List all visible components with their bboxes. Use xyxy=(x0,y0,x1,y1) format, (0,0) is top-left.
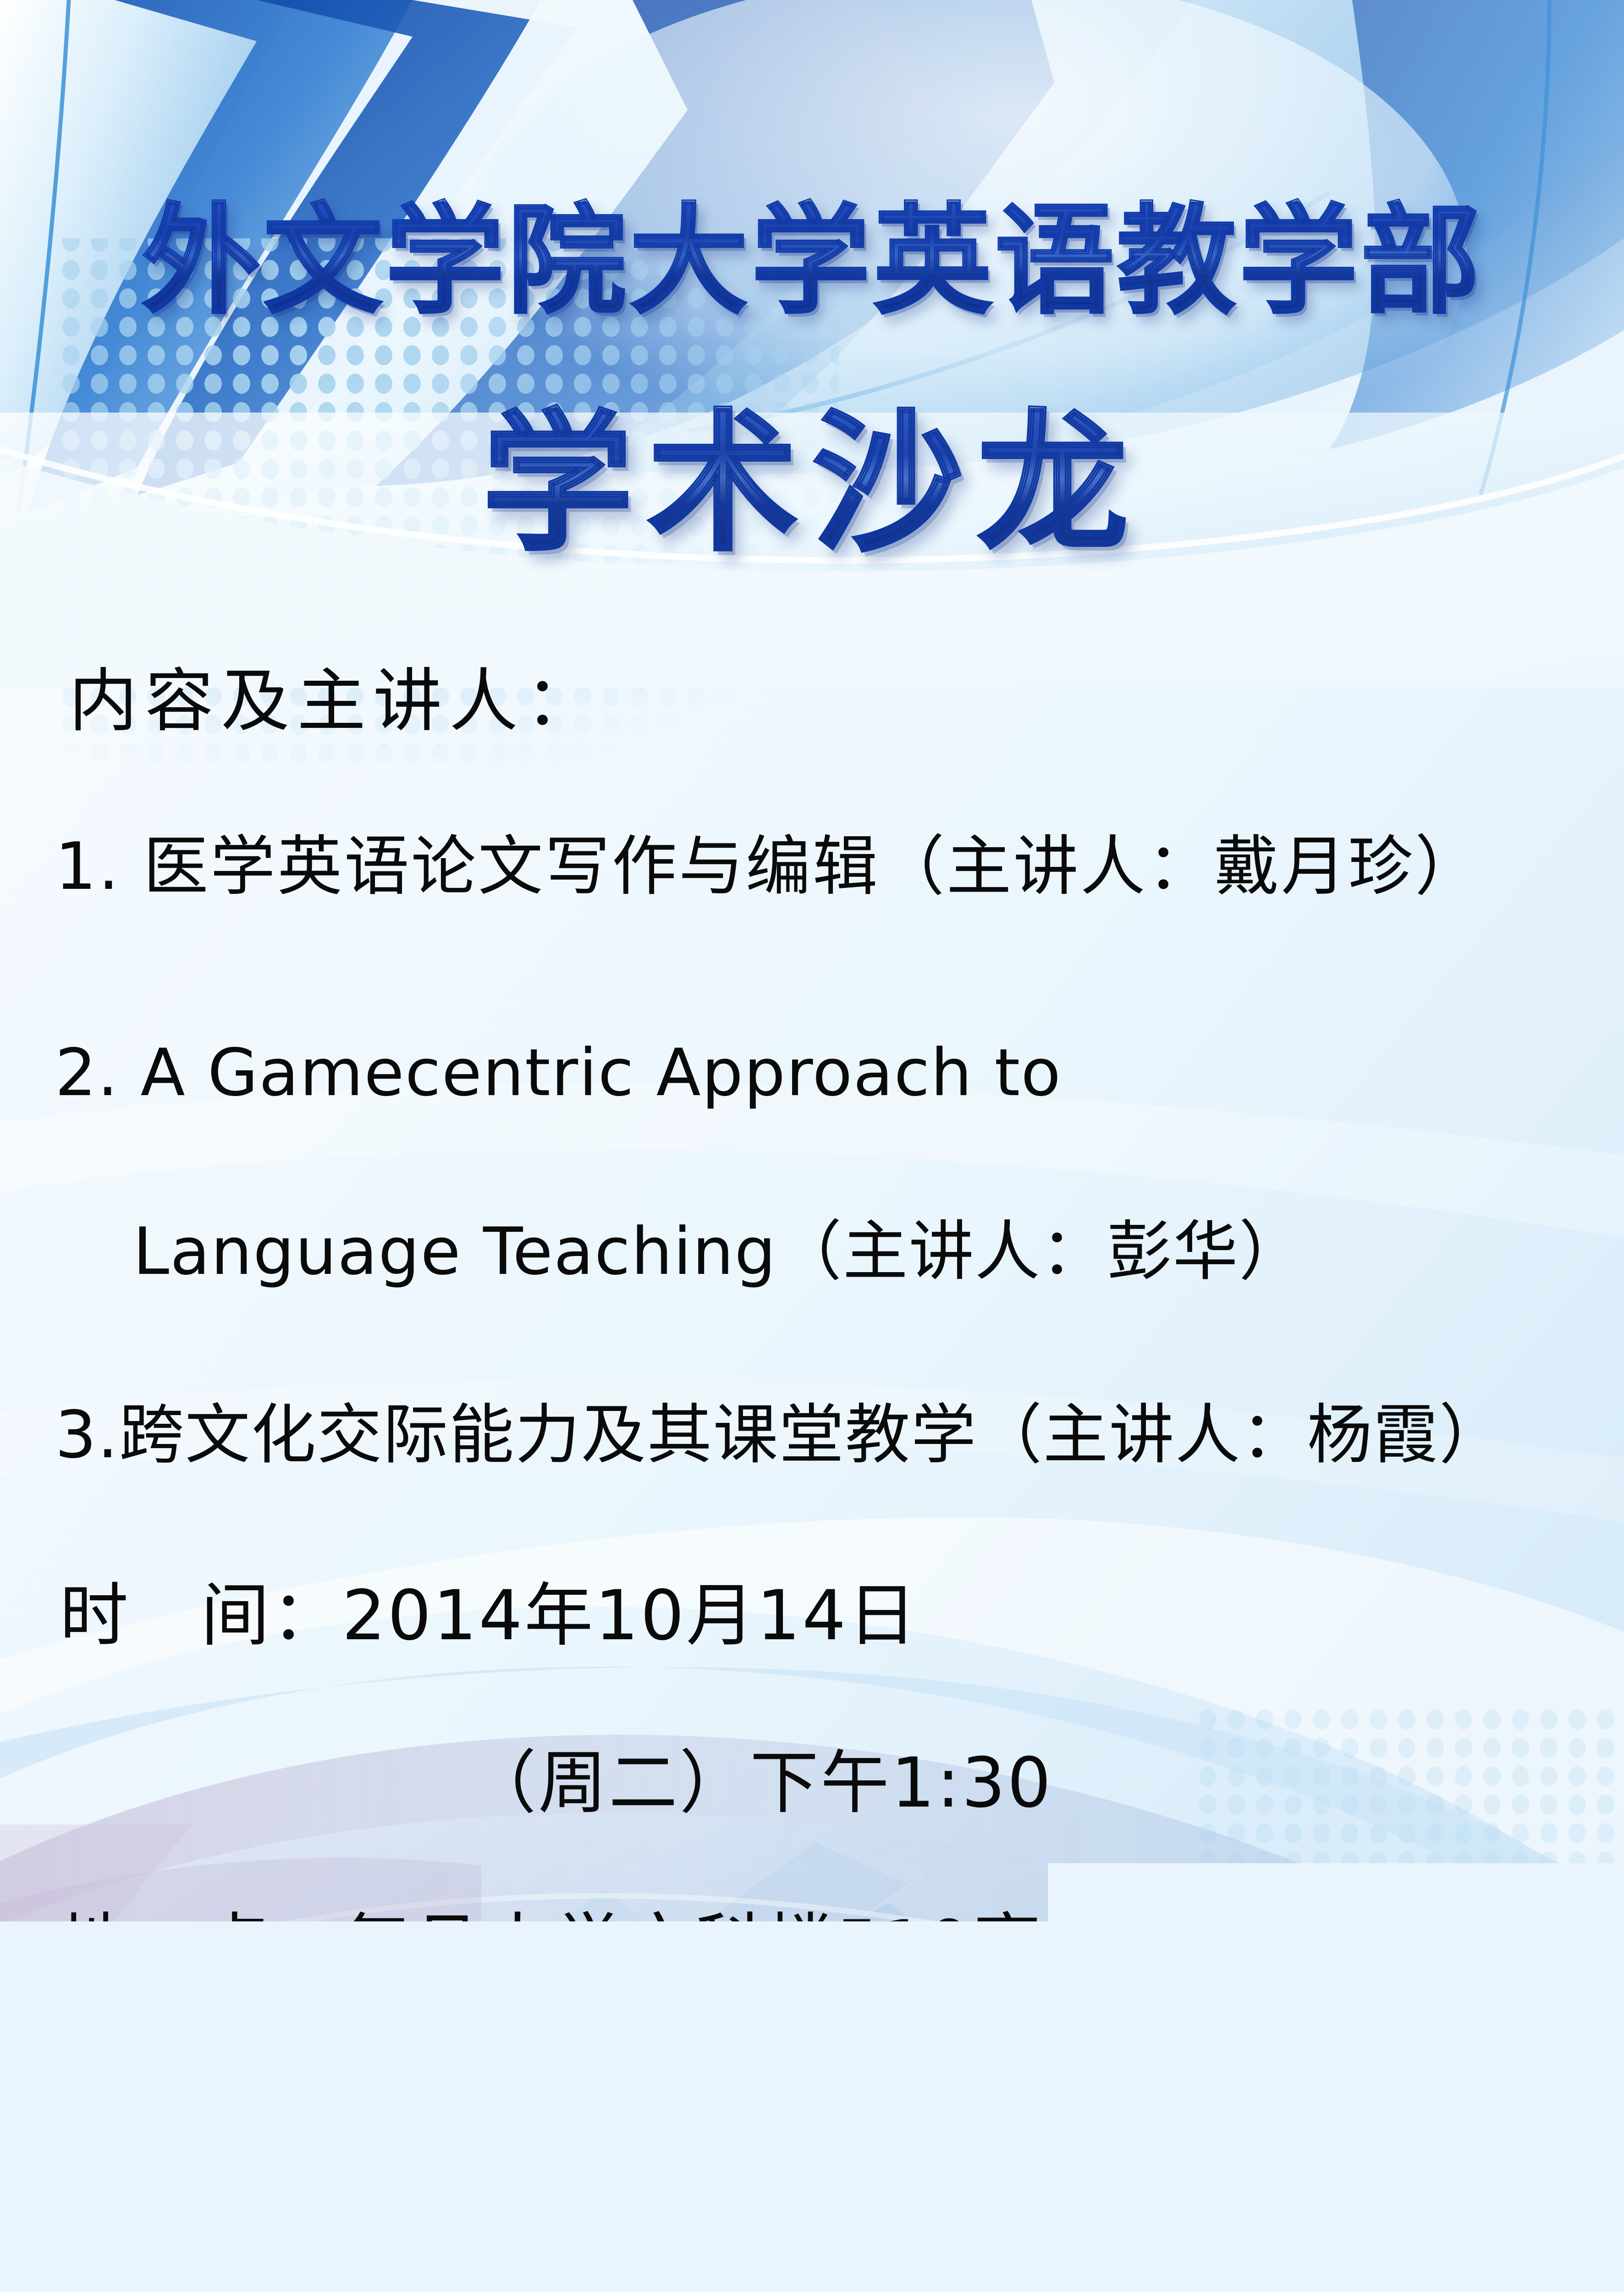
section-heading: 内容及主讲人： xyxy=(69,667,601,736)
event-place: 地 点：复旦大学文科楼510室 xyxy=(60,1912,1043,1980)
agenda-item-2-line-2: Language Teaching（主讲人：彭华） xyxy=(133,1219,1305,1284)
poster-canvas: 外文学院大学英语教学部 学术沙龙 内容及主讲人： 1. 医学英语论文写作与编辑（… xyxy=(0,0,1624,2292)
event-time-line-2: （周二）下午1:30 xyxy=(468,1749,1053,1818)
agenda-item-3: 3.跨文化交际能力及其课堂教学（主讲人：杨霞） xyxy=(55,1403,1505,1468)
poster-title-main: 外文学院大学英语教学部 xyxy=(0,202,1624,321)
agenda-item-1: 1. 医学英语论文写作与编辑（主讲人：戴月珍） xyxy=(55,834,1482,899)
poster-content: 外文学院大学英语教学部 学术沙龙 内容及主讲人： 1. 医学英语论文写作与编辑（… xyxy=(0,0,1624,2292)
poster-title-sub: 学术沙龙 xyxy=(0,408,1624,559)
agenda-item-2-line-1: 2. A Gamecentric Approach to xyxy=(55,1041,1062,1106)
welcome-call-to-action: 欢迎参加！ xyxy=(0,2129,1624,2239)
event-time-line-1: 时 间：2014年10月14日 xyxy=(60,1581,918,1650)
